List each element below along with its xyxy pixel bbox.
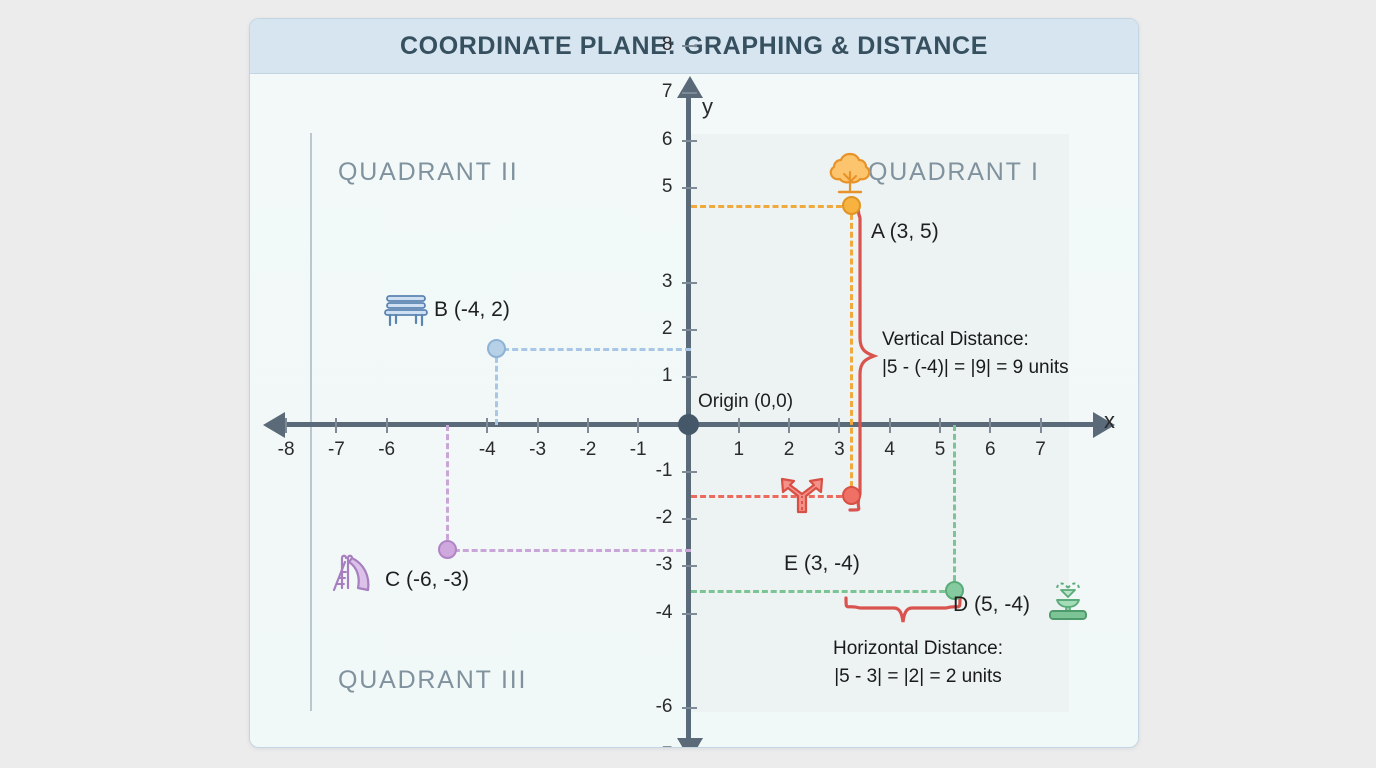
tree-icon (827, 150, 873, 203)
x-tick-label-7: 7 (1016, 439, 1066, 461)
vertical-distance-annotation: Vertical Distance: |5 - (-4)| = |9| = 9 … (882, 326, 1069, 382)
x-tick-4 (889, 418, 891, 433)
point-e-marker[interactable] (842, 486, 861, 505)
point-b-marker[interactable] (487, 339, 506, 358)
x-tick-label--3: -3 (513, 439, 563, 461)
origin-dot (678, 414, 699, 435)
y-tick-label--6: -6 (623, 696, 673, 718)
y-tick-label--2: -2 (623, 507, 673, 529)
y-tick-label-2: 2 (623, 318, 673, 340)
point-e-label: E (3, -4) (784, 552, 860, 576)
horizontal-distance-brace (842, 594, 964, 632)
y-tick-label--1: -1 (623, 460, 673, 482)
x-tick--6 (386, 418, 388, 433)
point-a-label: A (3, 5) (871, 220, 939, 244)
y-axis-label: y (702, 94, 713, 120)
y-axis-down-arrow-icon (677, 738, 703, 748)
plot-area: x y Origin (0,0) -8-7-6-4-3-2-1123456787… (250, 74, 1138, 748)
guide-c-vertical (446, 425, 449, 549)
screenshot-root: COORDINATE PLANE: GRAPHING & DISTANCE x … (0, 0, 1376, 768)
y-tick--4 (682, 613, 697, 615)
x-tick-5 (939, 418, 941, 433)
y-tick-6 (682, 140, 697, 142)
horizontal-distance-title: Horizontal Distance: (795, 635, 1041, 663)
point-c-marker[interactable] (438, 540, 457, 559)
fountain-icon (1042, 574, 1094, 627)
x-tick-label--1: -1 (613, 439, 663, 461)
x-tick-label--8: -8 (261, 439, 311, 461)
point-c-label: C (-6, -3) (385, 568, 469, 592)
y-tick-5 (682, 187, 697, 189)
y-tick-label--4: -4 (623, 602, 673, 624)
x-tick-6 (989, 418, 991, 433)
point-d-label: D (5, -4) (953, 593, 1030, 617)
y-tick-label-6: 6 (623, 129, 673, 151)
x-tick-1 (738, 418, 740, 433)
coordinate-plane-card: COORDINATE PLANE: GRAPHING & DISTANCE x … (249, 18, 1139, 748)
x-tick--2 (587, 418, 589, 433)
x-tick--3 (537, 418, 539, 433)
y-tick-8 (682, 45, 697, 47)
x-tick-7 (1040, 418, 1042, 433)
guide-e-horizontal (691, 495, 851, 498)
y-tick-label-5: 5 (623, 176, 673, 198)
horizontal-distance-annotation: Horizontal Distance: |5 - 3| = |2| = 2 u… (795, 635, 1041, 691)
bench-icon (382, 289, 430, 334)
y-tick--3 (682, 565, 697, 567)
x-tick-label-1: 1 (714, 439, 764, 461)
x-tick-label-6: 6 (965, 439, 1015, 461)
x-axis-left-arrow-icon (263, 412, 285, 438)
guide-d-horizontal (691, 590, 954, 593)
guide-c-horizontal (445, 549, 691, 552)
x-tick-label--7: -7 (311, 439, 361, 461)
y-tick-label-7: 7 (623, 81, 673, 103)
slide-icon (328, 552, 380, 603)
x-tick--4 (486, 418, 488, 433)
horizontal-distance-formula: |5 - 3| = |2| = 2 units (795, 663, 1041, 691)
x-tick-label-2: 2 (764, 439, 814, 461)
y-tick-2 (682, 329, 697, 331)
x-tick-label--6: -6 (362, 439, 412, 461)
y-tick-label-3: 3 (623, 271, 673, 293)
x-tick-label-5: 5 (915, 439, 965, 461)
guide-b-horizontal (494, 348, 691, 351)
y-axis-up-arrow-icon (677, 76, 703, 98)
x-tick--1 (637, 418, 639, 433)
x-tick-2 (788, 418, 790, 433)
x-tick-label--2: -2 (563, 439, 613, 461)
x-tick-label--4: -4 (462, 439, 512, 461)
y-tick-label--7: -7 (623, 744, 673, 748)
x-tick--8 (285, 418, 287, 433)
y-tick--2 (682, 518, 697, 520)
y-tick-label--3: -3 (623, 554, 673, 576)
trail-fork-icon (778, 470, 826, 521)
y-tick-1 (682, 376, 697, 378)
x-tick--7 (335, 418, 337, 433)
guide-a-horizontal (691, 205, 851, 208)
quadrant-two-label: QUADRANT II (338, 158, 518, 187)
y-tick-7 (682, 92, 697, 94)
y-tick-label-8: 8 (623, 34, 673, 56)
vertical-distance-brace (846, 198, 886, 514)
y-tick-label-1: 1 (623, 365, 673, 387)
origin-label: Origin (0,0) (698, 391, 793, 413)
y-tick--6 (682, 707, 697, 709)
quadrant-three-label: QUADRANT III (338, 666, 527, 695)
guide-d-vertical (953, 425, 956, 590)
x-axis-label: x (1104, 408, 1115, 434)
quadrant-one-label: QUADRANT I (868, 158, 1040, 187)
y-tick--1 (682, 471, 697, 473)
point-b-label: B (-4, 2) (434, 298, 510, 322)
y-tick-3 (682, 282, 697, 284)
x-tick-3 (838, 418, 840, 433)
guide-b-vertical (495, 348, 498, 425)
vertical-distance-title: Vertical Distance: (882, 326, 1069, 354)
vertical-distance-formula: |5 - (-4)| = |9| = 9 units (882, 354, 1069, 382)
